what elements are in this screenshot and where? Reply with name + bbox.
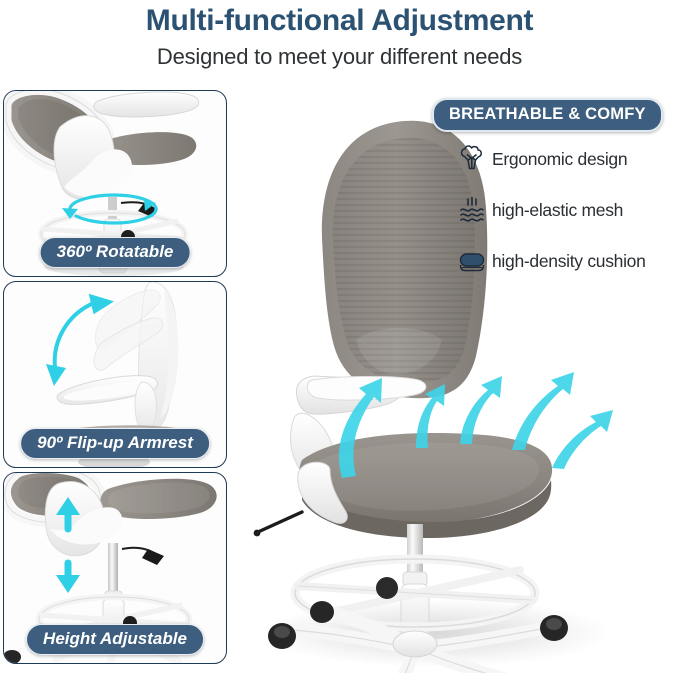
feature-item-high-elastic-mesh: high-elastic mesh [452, 187, 679, 233]
feature-item-high-density-cushion: high-density cushion [452, 238, 679, 284]
page-subtitle: Designed to meet your different needs [0, 38, 679, 70]
panel-label-height-adjustable: Height Adjustable [26, 624, 204, 655]
feature-label: high-elastic mesh [492, 200, 623, 221]
feature-label: Ergonomic design [492, 149, 627, 170]
panel-label-flip-armrest: 90º Flip-up Armrest [20, 428, 210, 459]
panel-flip-up-armrest: 90º Flip-up Armrest [3, 281, 227, 468]
feature-label: high-density cushion [492, 251, 646, 272]
breathable-comfy-badge: BREATHABLE & COMFY [432, 98, 663, 132]
ring-height-knob [376, 577, 398, 599]
panel-height-adjustable: 20cm Height Adjustable [3, 472, 227, 664]
header: Multi-functional Adjustment Designed to … [0, 0, 679, 86]
cushion-icon [452, 245, 492, 277]
infographic-canvas: Multi-functional Adjustment Designed to … [0, 0, 679, 673]
base-hub [393, 631, 437, 657]
feature-item-ergonomic-design: Ergonomic design [452, 136, 679, 182]
steam-waves-icon [452, 194, 492, 226]
panel-label-rotatable: 360º Rotatable [40, 237, 191, 268]
panel-360-rotatable: 360º Rotatable [3, 90, 227, 277]
feature-list: Ergonomic design high-elastic mesh [452, 136, 679, 289]
gas-cylinder [108, 543, 118, 595]
cotton-flower-icon [452, 143, 492, 175]
tilt-lever [254, 512, 302, 536]
page-title: Multi-functional Adjustment [0, 0, 679, 38]
